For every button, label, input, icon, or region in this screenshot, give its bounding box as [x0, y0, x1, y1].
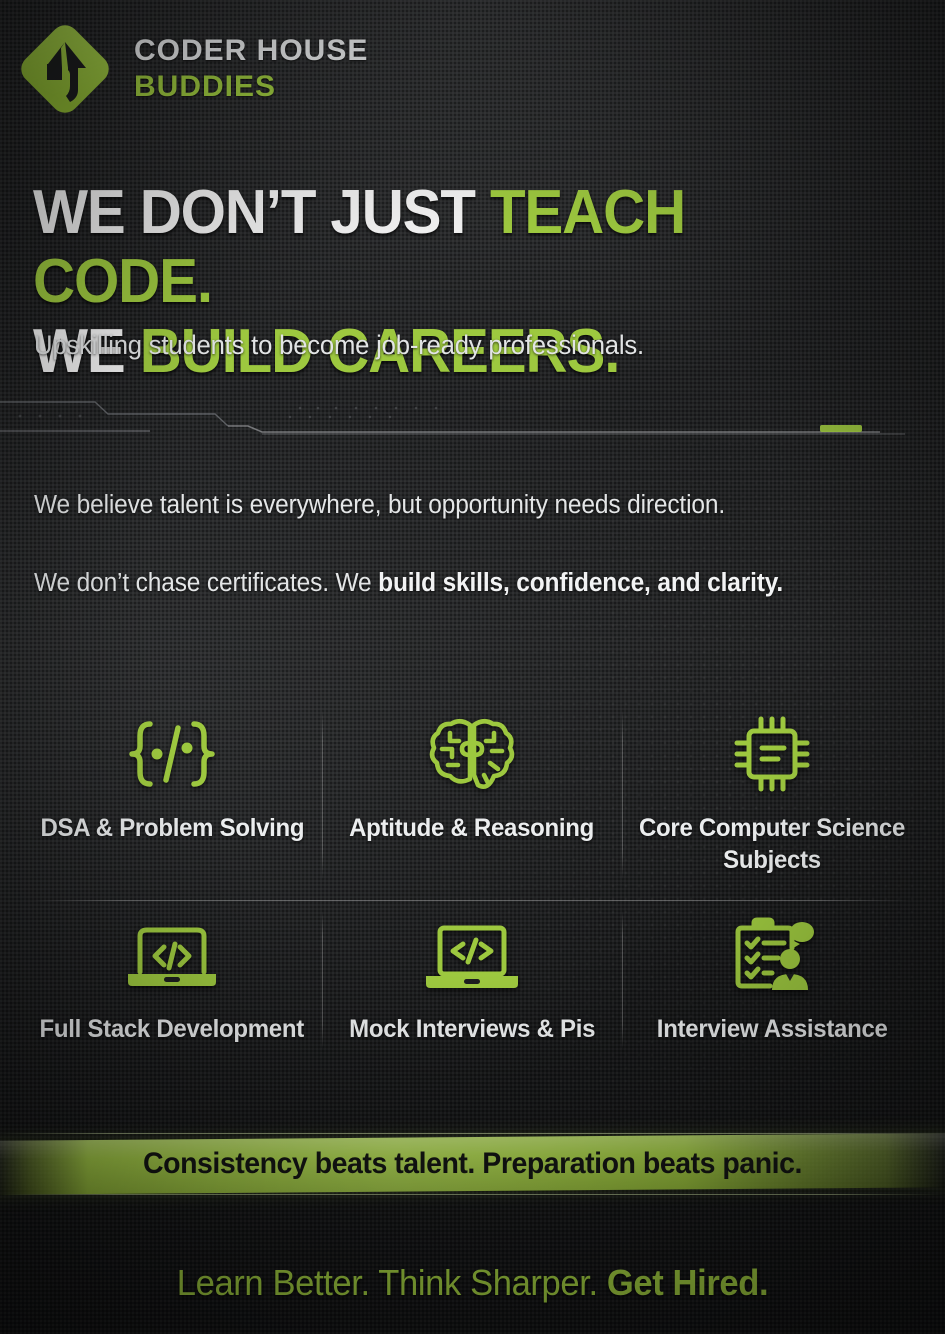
body-paragraph-1: We believe talent is everywhere, but opp…	[34, 487, 898, 523]
footer-tagline-part-2: Get Hired.	[607, 1262, 768, 1303]
headline-line-1: WE DON’T JUST TEACH CODE.	[33, 178, 870, 317]
headline-line-1-white: WE DON’T JUST	[33, 178, 490, 247]
feature-item-core-cs[interactable]: Core Computer Science Subjects	[622, 700, 922, 894]
footer-tagline-part-1: Learn Better. Think Sharper.	[177, 1262, 607, 1303]
circuit-divider-icon	[0, 398, 945, 444]
coder-house-buddies-logo-icon	[14, 18, 116, 120]
banner-text: Consistency beats talent. Preparation be…	[24, 1147, 922, 1181]
feature-item-aptitude[interactable]: Aptitude & Reasoning	[322, 700, 622, 894]
feature-label: DSA & Problem Solving	[40, 812, 304, 844]
body-paragraph-2-bold: build skills, confidence, and clarity.	[378, 569, 783, 597]
code-braces-icon	[120, 714, 224, 794]
logo[interactable]	[14, 18, 116, 120]
feature-label: Interview Assistance	[657, 1013, 888, 1045]
brand-line-1: CODER HOUSE	[134, 36, 368, 66]
brain-puzzle-icon	[426, 714, 518, 794]
feature-row-2: Full Stack Development Mo	[22, 901, 922, 1063]
tagline-banner: Consistency beats talent. Preparation be…	[0, 1131, 945, 1197]
feature-item-full-stack[interactable]: Full Stack Development	[22, 901, 322, 1063]
circuit-divider	[0, 398, 945, 444]
brand-header: CODER HOUSE BUDDIES	[14, 18, 368, 120]
feature-item-dsa[interactable]: DSA & Problem Solving	[22, 700, 322, 894]
feature-item-mock-interviews[interactable]: Mock Interviews & Pis	[322, 901, 622, 1063]
laptop-code-alt-icon	[420, 915, 524, 995]
laptop-code-icon	[120, 915, 224, 995]
brand-line-2: BUDDIES	[134, 72, 368, 102]
feature-label: Aptitude & Reasoning	[350, 812, 595, 844]
feature-label: Full Stack Development	[40, 1013, 304, 1045]
banner-edge-line-bottom	[0, 1194, 945, 1195]
feature-item-interview-assistance[interactable]: Interview Assistance	[622, 901, 922, 1063]
footer-tagline: Learn Better. Think Sharper. Get Hired.	[19, 1262, 926, 1304]
body-copy: We believe talent is everywhere, but opp…	[34, 487, 898, 602]
hero-subtitle: Upskilling students to become job-ready …	[34, 330, 870, 361]
feature-row-1: DSA & Problem Solving	[22, 700, 922, 894]
brand-wordmark: CODER HOUSE BUDDIES	[134, 36, 368, 102]
poster-root: CODER HOUSE BUDDIES WE DON’T JUST TEACH …	[0, 0, 945, 1334]
feature-label: Mock Interviews & Pis	[349, 1013, 595, 1045]
banner-edge-line-top	[0, 1133, 945, 1134]
body-paragraph-2-plain: We don’t chase certificates. We	[34, 569, 378, 597]
feature-grid: DSA & Problem Solving	[22, 700, 922, 1063]
body-paragraph-2: We don’t chase certificates. We build sk…	[34, 565, 898, 601]
clipboard-person-icon	[724, 915, 820, 995]
feature-label: Core Computer Science Subjects	[634, 812, 910, 876]
cpu-chip-icon	[729, 714, 815, 794]
